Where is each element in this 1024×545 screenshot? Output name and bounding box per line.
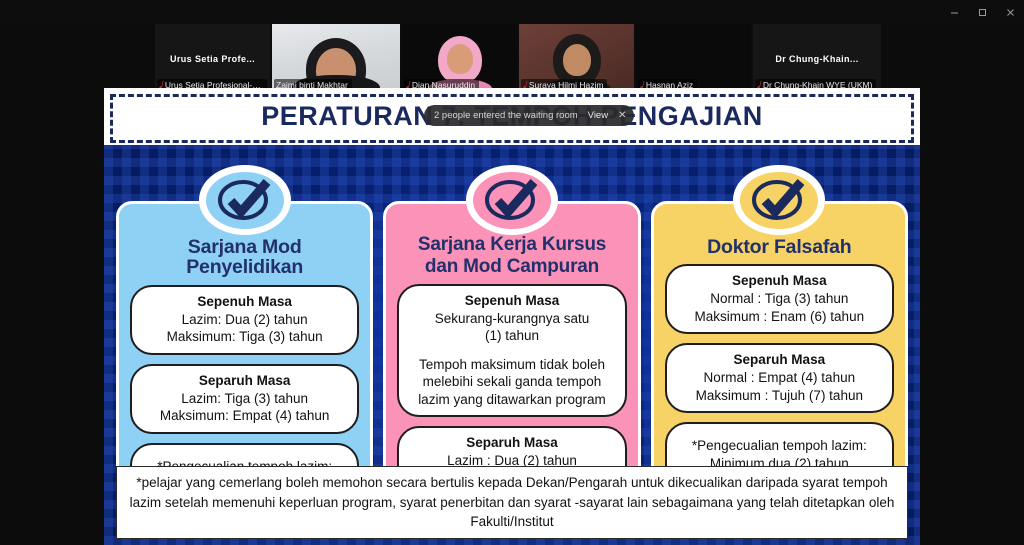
participant-initials: Dr Chung-Khain... (753, 54, 881, 64)
pill-line: Normal : Tiga (3) tahun (677, 290, 882, 308)
pill-line: Maksimum: Tiga (3) tahun (142, 328, 347, 346)
pill-line: Lazim: Tiga (3) tahun (142, 390, 347, 408)
participant-filmstrip[interactable]: Urus Setia Profe... 𝅗𝅥 Urus Setia Profesi… (155, 24, 869, 93)
card-title-line2: dan Mod Campuran (397, 257, 626, 284)
pill-heading: Separuh Masa (409, 435, 614, 452)
spacer (409, 345, 614, 356)
minimize-button[interactable] (940, 0, 968, 24)
close-button[interactable] (996, 0, 1024, 24)
maximize-button[interactable] (968, 0, 996, 24)
toast-close-icon[interactable]: ✕ (618, 111, 626, 121)
pill-line: (1) tahun (409, 327, 614, 345)
pill-line: Normal : Empat (4) tahun (677, 369, 882, 387)
pill-heading: Sepenuh Masa (677, 273, 882, 290)
info-pill: Sepenuh Masa Lazim: Dua (2) tahun Maksim… (130, 285, 359, 355)
pill-heading: Sepenuh Masa (142, 294, 347, 311)
info-pill: Sepenuh Masa Normal : Tiga (3) tahun Mak… (665, 264, 894, 334)
info-pill: Separuh Masa Lazim: Tiga (3) tahun Maksi… (130, 364, 359, 434)
waiting-room-toast[interactable]: 2 people entered the waiting room View ✕ (424, 105, 634, 126)
check-badge (733, 165, 825, 235)
pill-line: Sekurang-kurangnya satu (409, 310, 614, 328)
check-badge (466, 165, 558, 235)
card-title: Sarjana Mod Penyelidikan (130, 237, 359, 285)
pill-line: melebihi sekali ganda tempoh (409, 373, 614, 391)
pill-line: Maksimum : Tujuh (7) tahun (677, 387, 882, 405)
card-panel: Sarjana Kerja Kursus dan Mod Campuran Se… (383, 201, 640, 511)
check-circle-icon (740, 172, 818, 229)
toast-message: 2 people entered the waiting room (434, 110, 578, 121)
participant-tile-urus-setia[interactable]: Urus Setia Profe... 𝅗𝅥 Urus Setia Profesi… (155, 24, 270, 93)
pill-heading: Sepenuh Masa (409, 293, 614, 310)
pill-line: Maksimum: Empat (4) tahun (142, 407, 347, 425)
card-panel: Doktor Falsafah Sepenuh Masa Normal : Ti… (651, 201, 908, 503)
pill-line: Lazim: Dua (2) tahun (142, 311, 347, 329)
shared-slide: PERATURAN 7: TEMPOH PENGAJIAN (104, 88, 920, 545)
meeting-window: Urus Setia Profe... 𝅗𝅥 Urus Setia Profesi… (0, 0, 1024, 545)
info-pill: Separuh Masa Normal : Empat (4) tahun Ma… (665, 343, 894, 413)
participant-tile-chung-khain[interactable]: Dr Chung-Khain... 𝅗𝅥 Dr Chung-Khain WYE (… (753, 24, 881, 93)
check-circle-icon (206, 172, 284, 229)
card-title: Doktor Falsafah (665, 237, 894, 264)
check-badge (199, 165, 291, 235)
participant-tile-zaimi[interactable]: Zaimi binti Makhtar (272, 24, 400, 93)
participant-initials: Urus Setia Profe... (155, 54, 270, 64)
check-circle-icon (473, 172, 551, 229)
pill-heading: Separuh Masa (677, 352, 882, 369)
pill-line: *Pengecualian tempoh lazim: (677, 437, 882, 455)
participant-tile-suraya[interactable]: 𝅗𝅥 Suraya Hilmi Hazim (519, 24, 634, 93)
info-pill: Sepenuh Masa Sekurang-kurangnya satu (1)… (397, 284, 626, 418)
footer-note: *pelajar yang cemerlang boleh memohon se… (116, 466, 908, 539)
pill-heading: Separuh Masa (142, 373, 347, 390)
participant-tile-dian[interactable]: 𝅗𝅥 Dian Nasuruddin (402, 24, 517, 93)
pill-line: Tempoh maksimum tidak boleh (409, 356, 614, 374)
pill-line: Maksimum : Enam (6) tahun (677, 308, 882, 326)
window-titlebar (0, 0, 1024, 24)
pill-line: lazim yang ditawarkan program (409, 391, 614, 409)
toast-view-button[interactable]: View (588, 110, 608, 121)
participant-tile-hasnan[interactable]: 𝅗𝅥 Hasnan Aziz (636, 24, 751, 93)
slide-body: Sarjana Mod Penyelidikan Sepenuh Masa La… (104, 145, 920, 545)
